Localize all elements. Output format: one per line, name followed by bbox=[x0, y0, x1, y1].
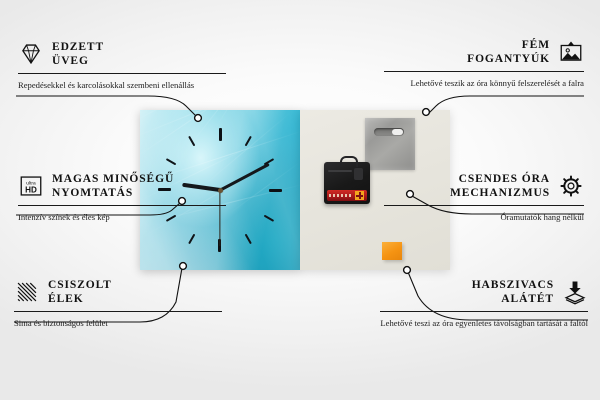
metal-hanger-plate bbox=[365, 118, 415, 170]
divider bbox=[380, 311, 588, 312]
divider bbox=[14, 311, 222, 312]
divider bbox=[384, 71, 584, 72]
mechanism-detail-2 bbox=[354, 168, 363, 180]
foam-spacer-pad bbox=[382, 242, 402, 260]
battery bbox=[327, 190, 367, 201]
feature-silent-mechanism: CSENDES ÓRAMECHANIZMUS Óramutatók hang n… bbox=[384, 172, 584, 223]
tick-mark bbox=[220, 189, 282, 191]
feature-description: Repedésekkel és karcolásokkal szembeni e… bbox=[18, 79, 226, 91]
feature-description: Lehetővé teszi az óra egyenletes távolsá… bbox=[380, 317, 588, 329]
ultra-hd-icon: ultra HD bbox=[18, 173, 44, 199]
feature-title: CSISZOLTÉLEK bbox=[48, 278, 112, 306]
divider bbox=[384, 205, 584, 206]
feature-tempered-glass: EDZETTÜVEG Repedésekkel és karcolásokkal… bbox=[18, 40, 226, 91]
svg-text:HD: HD bbox=[25, 186, 37, 195]
feature-title: MAGAS MINŐSÉGŰNYOMTATÁS bbox=[52, 172, 174, 200]
feature-description: Óramutatók hang nélkül bbox=[384, 211, 584, 223]
feature-high-quality-print: ultra HD MAGAS MINŐSÉGŰNYOMTATÁS Intenzí… bbox=[18, 172, 226, 223]
connector-handles bbox=[428, 96, 584, 114]
feather-streak bbox=[140, 110, 242, 159]
polished-edge-icon bbox=[14, 279, 40, 305]
mechanism-hook bbox=[340, 156, 358, 167]
battery-plus-terminal bbox=[355, 191, 364, 200]
feature-description: Sima és biztonságos felület bbox=[14, 317, 222, 329]
feature-foam-pad: HABSZIVACSALÁTÉT Lehetővé teszi az óra e… bbox=[380, 278, 588, 329]
feature-title: FÉMFOGANTYÚK bbox=[467, 38, 550, 66]
feature-polished-edges: CSISZOLTÉLEK Sima és biztonságos felület bbox=[14, 278, 222, 329]
feature-title: EDZETTÜVEG bbox=[52, 40, 104, 68]
infographic-canvas: EDZETTÜVEG Repedésekkel és karcolásokkal… bbox=[0, 0, 600, 400]
feather-streak bbox=[214, 110, 268, 131]
feature-description: Lehetővé teszik az óra könnyű felszerelé… bbox=[384, 77, 584, 89]
diamond-icon bbox=[18, 41, 44, 67]
feature-description: Intenzív színek és éles kép bbox=[18, 211, 226, 223]
quartz-mechanism bbox=[324, 162, 370, 204]
foam-pad-icon bbox=[562, 279, 588, 305]
feature-metal-handles: FÉMFOGANTYÚK Lehetővé teszik az óra könn… bbox=[384, 38, 584, 89]
picture-hanger-icon bbox=[558, 39, 584, 65]
feature-title: HABSZIVACSALÁTÉT bbox=[472, 278, 554, 306]
feature-title: CSENDES ÓRAMECHANIZMUS bbox=[450, 172, 550, 200]
gear-icon bbox=[558, 173, 584, 199]
mechanism-detail bbox=[328, 170, 352, 172]
hanger-slot bbox=[374, 128, 404, 136]
divider bbox=[18, 73, 226, 74]
divider bbox=[18, 205, 226, 206]
